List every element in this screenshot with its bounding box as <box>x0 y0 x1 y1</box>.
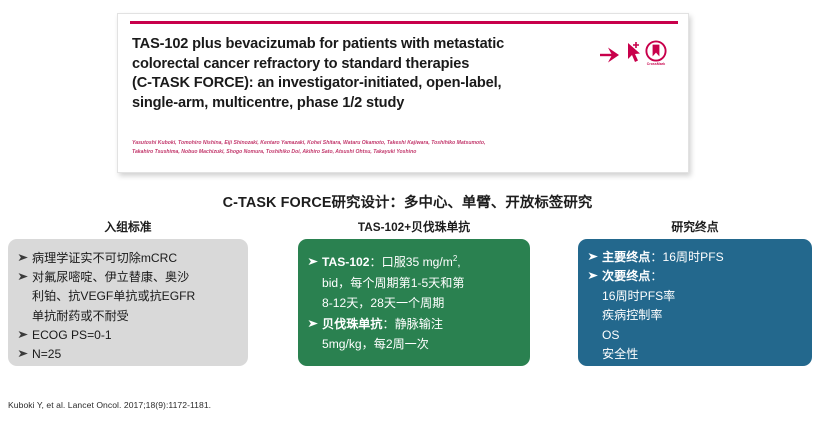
list-item: ➤ 病理学证实不可切除mCRC <box>17 249 241 268</box>
list-item-continuation: bid，每个周期第1-5天和第 <box>307 273 525 294</box>
crossmark-logo-group: CrossMark <box>599 39 677 71</box>
list-item: ➤ 主要终点：16周时PFS <box>587 248 807 267</box>
list-item: ➤ 对氟尿嘧啶、伊立替康、奥沙 <box>17 268 241 287</box>
treatment-panel: ➤ TAS-102：口服35 mg/m2, bid，每个周期第1-5天和第 8-… <box>298 239 530 366</box>
list-item-continuation: 单抗耐药或不耐受 <box>17 307 241 326</box>
list-item-label: ECOG PS=0-1 <box>32 326 241 345</box>
column-header-eligibility: 入组标准 <box>8 218 248 235</box>
arrow-bullet-icon: ➤ <box>587 248 606 267</box>
list-item-label: 5mg/kg，每2周一次 <box>322 334 525 355</box>
list-item-continuation: 8-12天，28天一个周期 <box>307 293 525 314</box>
endpoints-list: ➤ 主要终点：16周时PFS ➤ 次要终点： 16周时PFS率 疾病控制率 OS… <box>587 248 807 364</box>
treatment-list: ➤ TAS-102：口服35 mg/m2, bid，每个周期第1-5天和第 8-… <box>307 252 525 355</box>
endpoints-panel: ➤ 主要终点：16周时PFS ➤ 次要终点： 16周时PFS率 疾病控制率 OS… <box>578 239 812 366</box>
list-item: ➤ 贝伐珠单抗：静脉输注 <box>307 314 525 335</box>
sub-list-item: 16周时PFS率 <box>587 287 807 306</box>
list-item-label: 对氟尿嘧啶、伊立替康、奥沙 <box>32 268 241 287</box>
article-title-line: single-arm, multicentre, phase 1/2 study <box>132 94 602 114</box>
accent-rule <box>130 21 678 24</box>
list-item-continuation: 利铂、抗VEGF单抗或抗EGFR <box>17 287 241 306</box>
list-item-label: 主要终点：16周时PFS <box>602 248 807 267</box>
arrow-bullet-icon: ➤ <box>307 314 326 335</box>
list-item: ➤ ECOG PS=0-1 <box>17 326 241 345</box>
sub-list-item: 疾病控制率 <box>587 306 807 325</box>
page-title: C-TASK FORCE研究设计：多中心、单臂、开放标签研究 <box>0 191 815 212</box>
list-item-lead: 次要终点 <box>602 269 650 283</box>
list-item-lead: TAS-102 <box>322 255 370 269</box>
eligibility-panel: ➤ 病理学证实不可切除mCRC ➤ 对氟尿嘧啶、伊立替康、奥沙 利铂、抗VEGF… <box>8 239 248 366</box>
article-title-line: TAS-102 plus bevacizumab for patients wi… <box>132 35 602 55</box>
article-title-line: colorectal cancer refractory to standard… <box>132 55 602 75</box>
list-item-label: 利铂、抗VEGF单抗或抗EGFR <box>32 287 241 306</box>
arrow-bullet-icon: ➤ <box>17 326 36 345</box>
article-title-line: (C-TASK FORCE): an investigator-initiate… <box>132 74 602 94</box>
author-line: Yasutoshi Kuboki, Tomohiro Nishina, Eiji… <box>132 139 677 148</box>
sub-list-item: OS <box>587 326 807 345</box>
list-item-label: N=25 <box>32 345 241 364</box>
list-item-label: 8-12天，28天一个周期 <box>322 293 525 314</box>
article-title-card: TAS-102 plus bevacizumab for patients wi… <box>117 13 689 173</box>
arrow-icon <box>599 46 623 69</box>
author-line: Takahiro Tsushima, Nobuo Machizuki, Shog… <box>132 148 677 157</box>
list-item-continuation: 5mg/kg，每2周一次 <box>307 334 525 355</box>
list-item-body: ：口服35 mg/m <box>370 255 453 269</box>
column-header-endpoints: 研究终点 <box>578 218 812 235</box>
list-item-label: 病理学证实不可切除mCRC <box>32 249 241 268</box>
crossmark-label: CrossMark <box>645 62 667 66</box>
eligibility-list: ➤ 病理学证实不可切除mCRC ➤ 对氟尿嘧啶、伊立替康、奥沙 利铂、抗VEGF… <box>17 249 241 364</box>
list-item-body: ：16周时PFS <box>650 250 723 264</box>
list-item-body: ： <box>650 269 662 283</box>
citation-text: Kuboki Y, et al. Lancet Oncol. 2017;18(9… <box>8 400 211 410</box>
article-title: TAS-102 plus bevacizumab for patients wi… <box>132 35 602 113</box>
column-header-treatment: TAS-102+贝伐珠单抗 <box>298 218 530 235</box>
sub-list-item: 安全性 <box>587 345 807 364</box>
list-item-label: bid，每个周期第1-5天和第 <box>322 273 525 294</box>
arrow-bullet-icon: ➤ <box>17 268 36 287</box>
list-item-label: 次要终点： <box>602 267 807 286</box>
list-item-body: ：静脉输注 <box>382 317 442 331</box>
list-item: ➤ N=25 <box>17 345 241 364</box>
list-item-label: TAS-102：口服35 mg/m2, <box>322 252 525 273</box>
list-item-label: 贝伐珠单抗：静脉输注 <box>322 314 525 335</box>
arrow-bullet-icon: ➤ <box>17 345 36 364</box>
arrow-bullet-icon: ➤ <box>307 252 326 273</box>
list-item-label: 单抗耐药或不耐受 <box>32 307 241 326</box>
arrow-bullet-icon: ➤ <box>587 267 606 286</box>
list-item: ➤ TAS-102：口服35 mg/m2, <box>307 252 525 273</box>
list-item-lead: 主要终点 <box>602 250 650 264</box>
arrow-bullet-icon: ➤ <box>17 249 36 268</box>
list-item: ➤ 次要终点： <box>587 267 807 286</box>
list-item-tail: , <box>457 255 460 269</box>
cursor-icon <box>625 41 643 72</box>
crossmark-icon: CrossMark <box>645 40 667 66</box>
author-list: Yasutoshi Kuboki, Tomohiro Nishina, Eiji… <box>132 139 677 156</box>
list-item-lead: 贝伐珠单抗 <box>322 317 382 331</box>
